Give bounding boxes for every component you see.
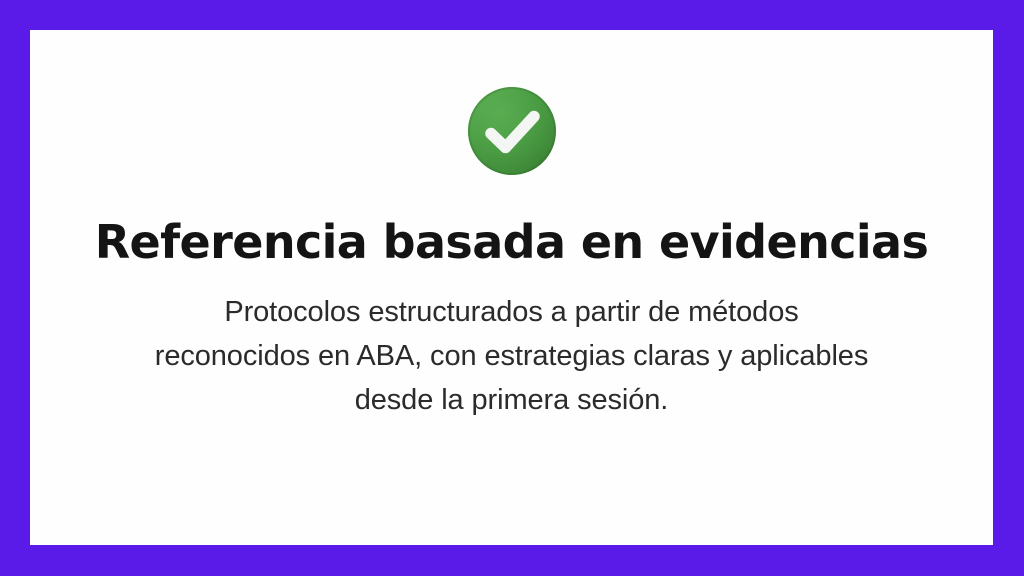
body-paragraph: Protocolos estructurados a partir de mét… bbox=[72, 290, 952, 422]
body-line: Protocolos estructurados a partir de mét… bbox=[72, 290, 952, 334]
body-line: desde la primera sesión. bbox=[72, 378, 952, 422]
slide-frame: Referencia basada en evidencias Protocol… bbox=[0, 0, 1024, 576]
page-title: Referencia basada en evidencias bbox=[95, 217, 929, 268]
green-check-circle-icon bbox=[466, 85, 558, 177]
body-line: reconocidos en ABA, con estrategias clar… bbox=[72, 334, 952, 378]
content-panel: Referencia basada en evidencias Protocol… bbox=[30, 30, 993, 545]
